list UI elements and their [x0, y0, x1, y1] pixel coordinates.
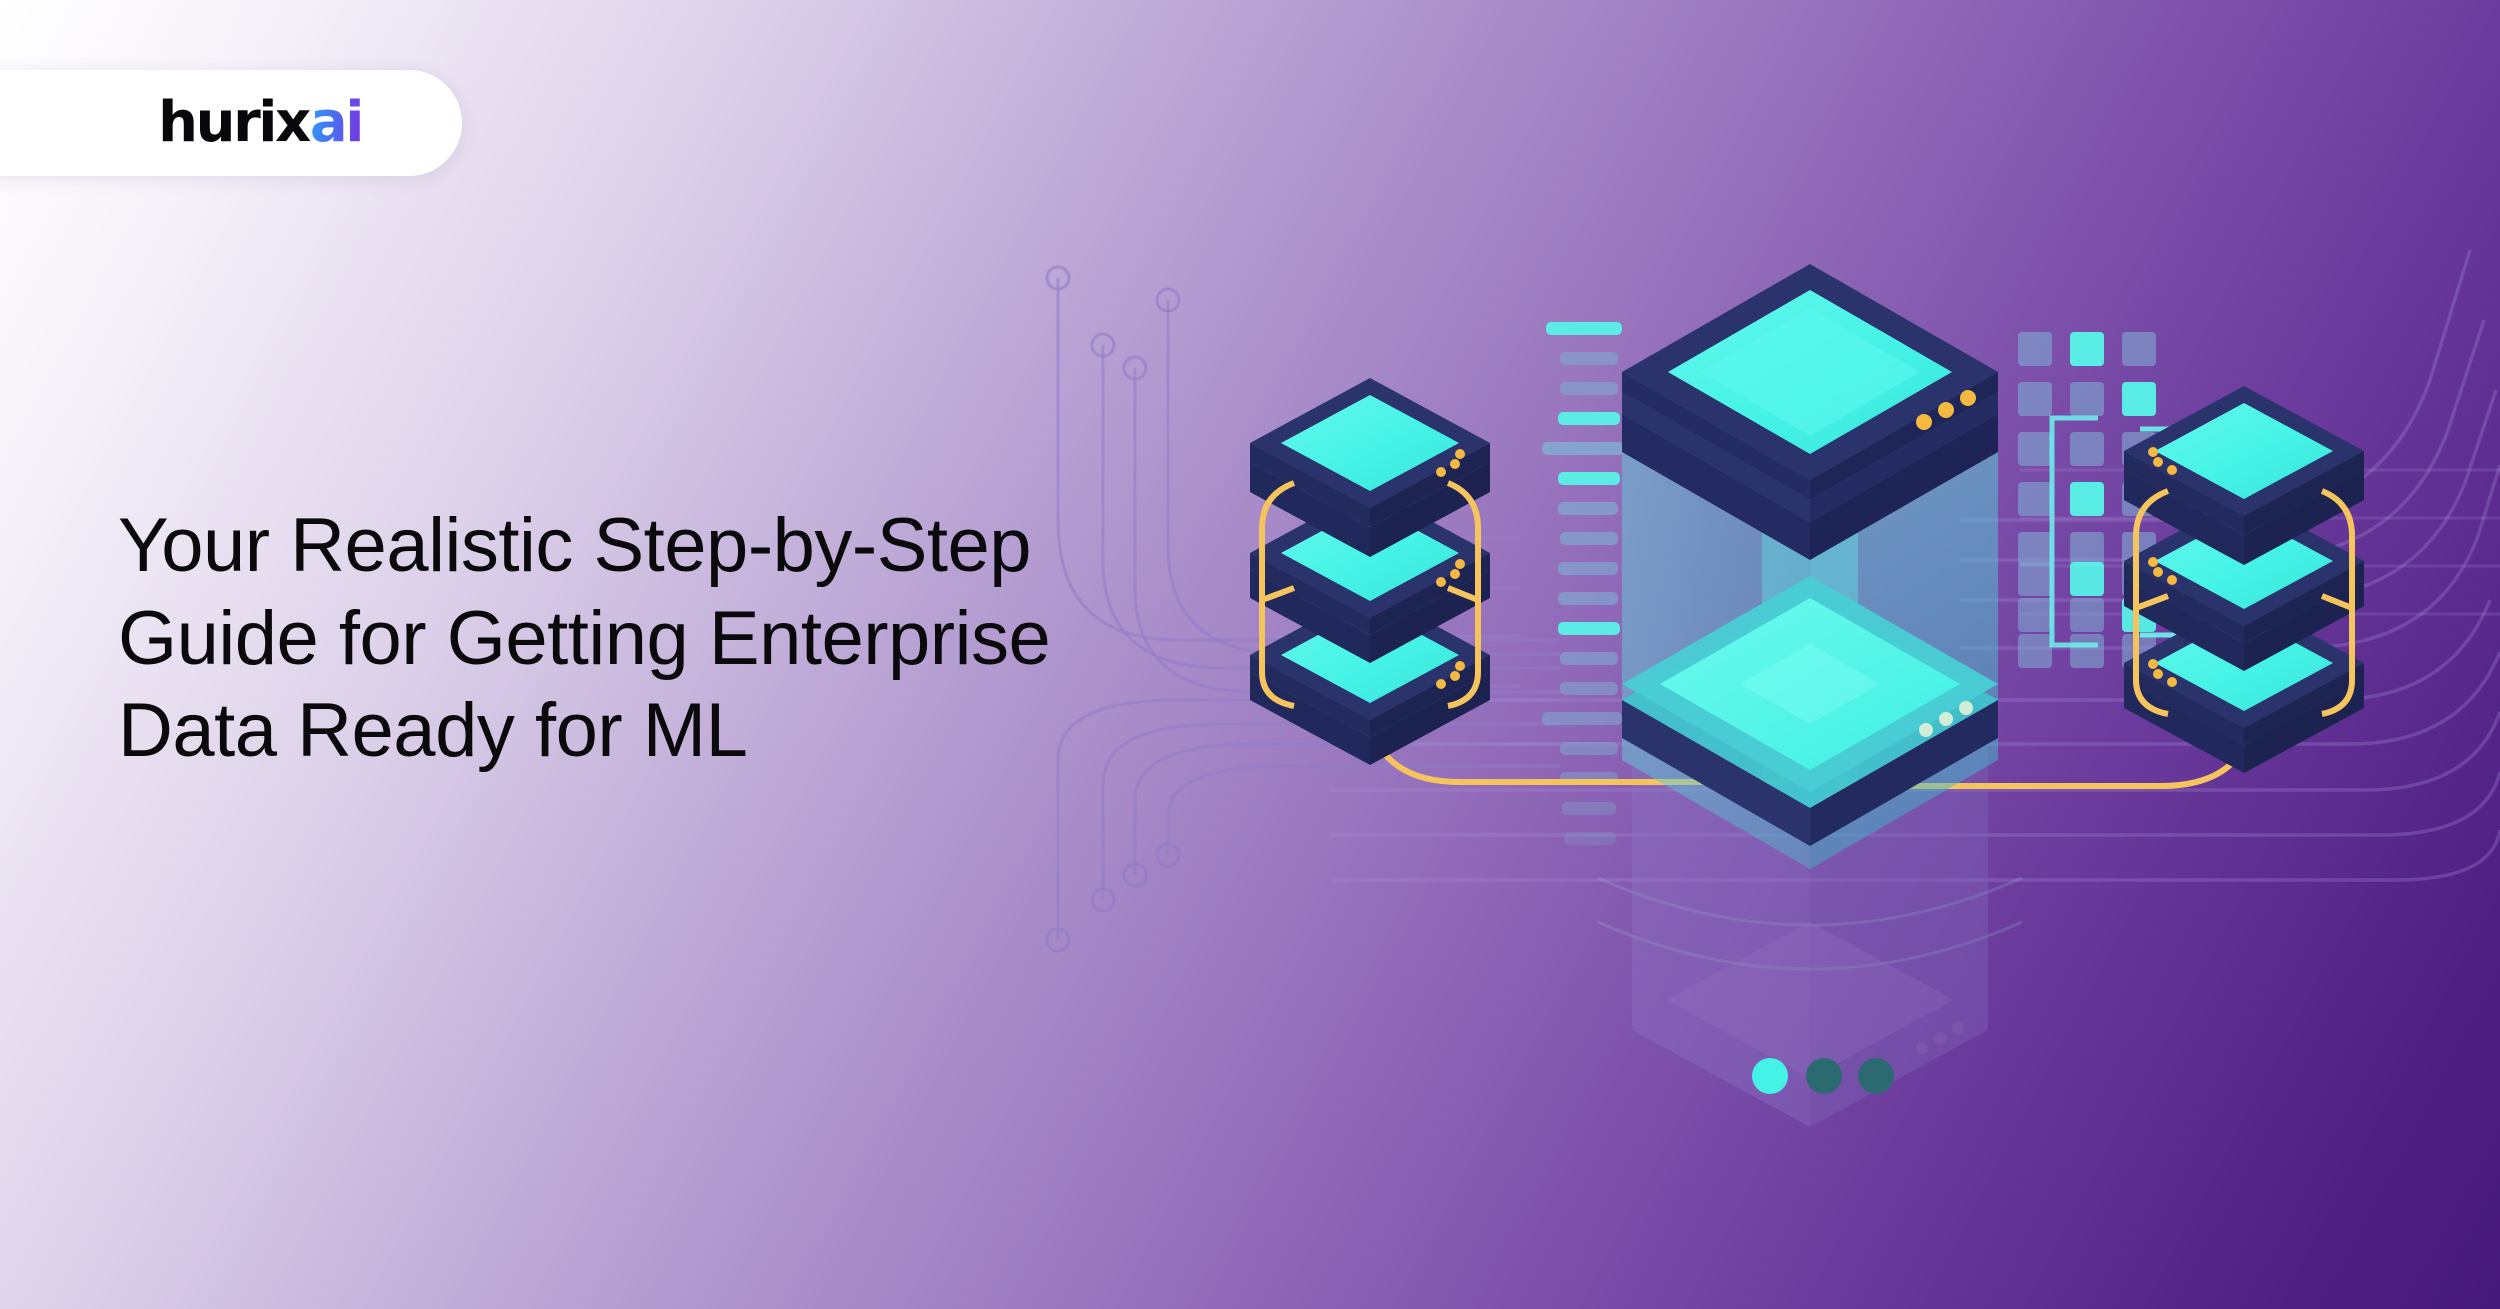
right-plate-middle	[2124, 496, 2364, 671]
vertical-bar-meter	[1542, 322, 1624, 845]
left-server-stack	[1250, 378, 1490, 765]
dot-matrix-bottom	[2018, 552, 2156, 668]
left-stack-cables	[1262, 483, 1478, 706]
right-plate-bottom	[2124, 598, 2364, 773]
pagination-dot	[1858, 1058, 1894, 1094]
dot-matrix-top	[2018, 332, 2156, 566]
headline-title: Your Realistic Step-by-Step Guide for Ge…	[118, 500, 1178, 778]
cube-left-wall	[1622, 414, 1810, 869]
amber-cable-network	[1366, 590, 2254, 786]
right-server-stack	[2124, 386, 2364, 773]
cyan-connector-bracket	[2052, 418, 2098, 645]
cyan-connector-line	[2140, 429, 2205, 635]
reflection-leds-lower	[1916, 1022, 1964, 1054]
cube-reflection	[1598, 648, 2022, 1127]
promo-banner: hurix ai Your Realistic Step-by-Step Gui…	[0, 0, 2500, 1309]
background-scanlines	[1205, 470, 2500, 686]
reflection-leds	[1911, 728, 1965, 764]
logo-text-primary: hurix	[158, 95, 309, 151]
right-stack-cables	[2136, 491, 2352, 714]
cube-bottom-plate	[1622, 576, 1998, 846]
pagination-dot-active	[1752, 1058, 1788, 1094]
left-plate-top	[1250, 378, 1490, 557]
cube-inner-glow	[1762, 470, 1858, 840]
circuit-traces-right	[1330, 250, 2500, 880]
right-plate-top	[2124, 386, 2364, 565]
pagination-dot	[1806, 1058, 1842, 1094]
logo-text-accent: ai	[310, 95, 362, 151]
left-plate-bottom	[1250, 590, 1490, 765]
brand-logo-pill[interactable]: hurix ai	[0, 70, 462, 176]
glass-server-cube	[1622, 264, 1998, 869]
cube-top-lid	[1622, 264, 1998, 560]
cube-right-wall	[1810, 414, 1998, 869]
left-plate-middle	[1250, 488, 1490, 663]
pagination-dots[interactable]	[1752, 1058, 1894, 1094]
brand-logo-wordmark: hurix ai	[158, 95, 362, 151]
